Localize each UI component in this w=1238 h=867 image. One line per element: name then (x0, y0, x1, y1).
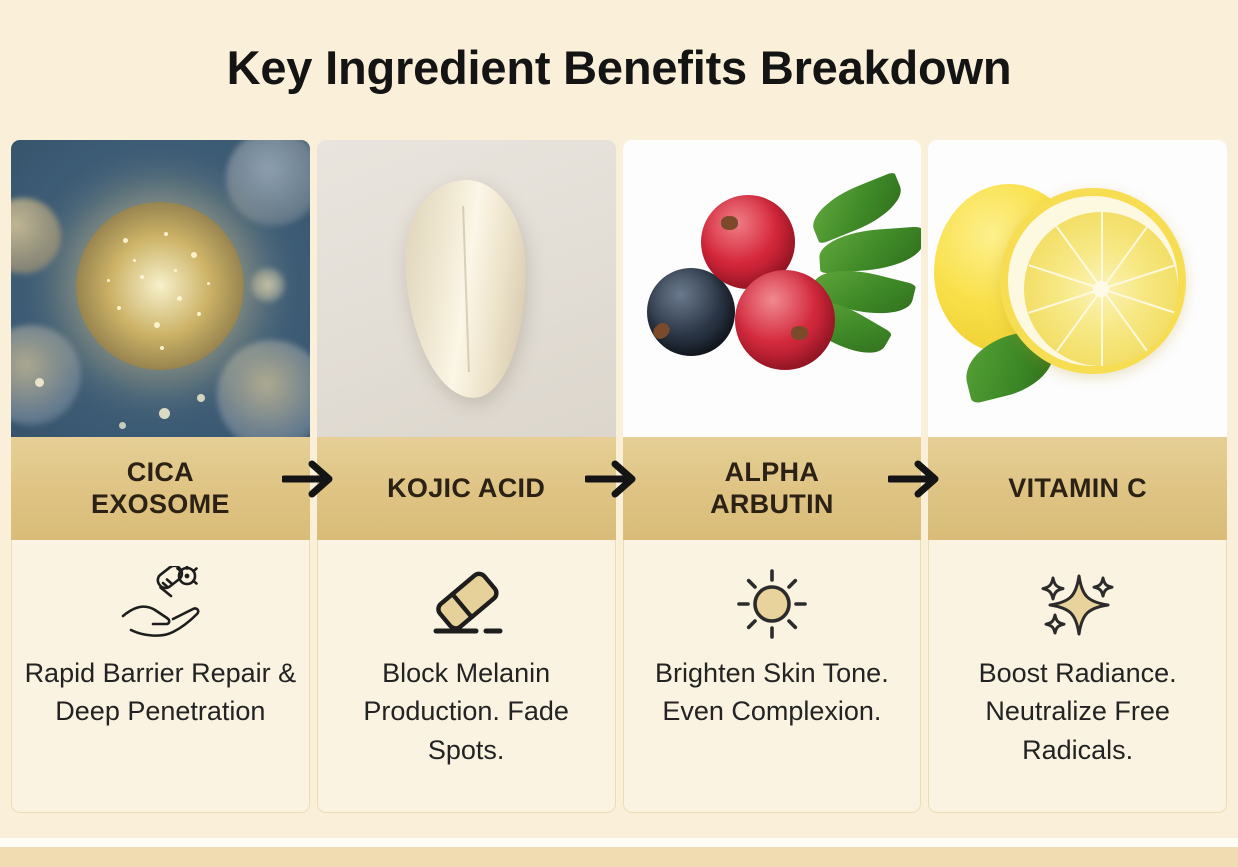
bokeh-circle (11, 198, 61, 274)
card-description-panel-cica-exosome: Rapid Barrier Repair & Deep Penetration (11, 540, 310, 813)
card-label-kojic-acid: KOJIC ACID (317, 437, 616, 540)
bokeh-circle (251, 268, 285, 302)
card-image-seed (317, 140, 616, 437)
ingredient-card-kojic-acid[interactable]: KOJIC ACID Block Melanin Production. Fad… (317, 140, 616, 813)
hand-with-capsule-icon (117, 564, 203, 644)
lemon-rind (1008, 196, 1178, 366)
bokeh-circle (226, 140, 310, 226)
footer-divider (0, 838, 1238, 847)
ingredient-card-alpha-arbutin[interactable]: ALPHA ARBUTIN Brighten Skin Tone. Even C… (623, 140, 922, 813)
card-description-text-vitamin-c: Boost Radiance. Neutralize Free Radicals… (929, 654, 1226, 769)
ingredient-card-vitamin-c[interactable]: VITAMIN C Boost Radiance. Neutralize Fre… (928, 140, 1227, 813)
bokeh-circle (11, 325, 81, 425)
sun-icon (733, 564, 811, 644)
card-label-alpha-arbutin: ALPHA ARBUTIN (623, 437, 922, 540)
cranberry (735, 270, 835, 370)
page-title: Key Ingredient Benefits Breakdown (0, 42, 1238, 94)
card-image-lemon (928, 140, 1227, 437)
card-description-panel-alpha-arbutin: Brighten Skin Tone. Even Complexion. (623, 540, 922, 813)
berry-cap (721, 216, 738, 230)
lemon-flesh (1024, 212, 1178, 366)
ingredient-card-cica-exosome[interactable]: CICA EXOSOME Rapid Barrie (11, 140, 310, 813)
card-description-panel-kojic-acid: Block Melanin Production. Fade Spots. (317, 540, 616, 813)
berries-illustration (623, 140, 922, 437)
eraser-icon (422, 564, 510, 644)
sparkles-icon (1035, 564, 1121, 644)
card-label-cica-exosome: CICA EXOSOME (11, 437, 310, 540)
seed-illustration (317, 140, 616, 437)
exosome-illustration (11, 140, 310, 437)
lemon-half (1000, 188, 1186, 374)
lemon-illustration (928, 140, 1227, 437)
berry-cap (791, 326, 808, 340)
seed-shape (402, 177, 530, 399)
footer-band (0, 847, 1238, 867)
seed-ridge (462, 206, 470, 372)
card-label-vitamin-c: VITAMIN C (928, 437, 1227, 540)
card-image-exosome (11, 140, 310, 437)
bokeh-circle (217, 340, 310, 437)
card-image-berries (623, 140, 922, 437)
card-description-panel-vitamin-c: Boost Radiance. Neutralize Free Radicals… (928, 540, 1227, 813)
card-description-text-cica-exosome: Rapid Barrier Repair & Deep Penetration (12, 654, 309, 731)
exosome-sphere (76, 202, 244, 370)
ingredient-card-strip: CICA EXOSOME Rapid Barrie (11, 140, 1227, 813)
card-description-text-kojic-acid: Block Melanin Production. Fade Spots. (318, 654, 615, 769)
card-description-text-alpha-arbutin: Brighten Skin Tone. Even Complexion. (624, 654, 921, 731)
